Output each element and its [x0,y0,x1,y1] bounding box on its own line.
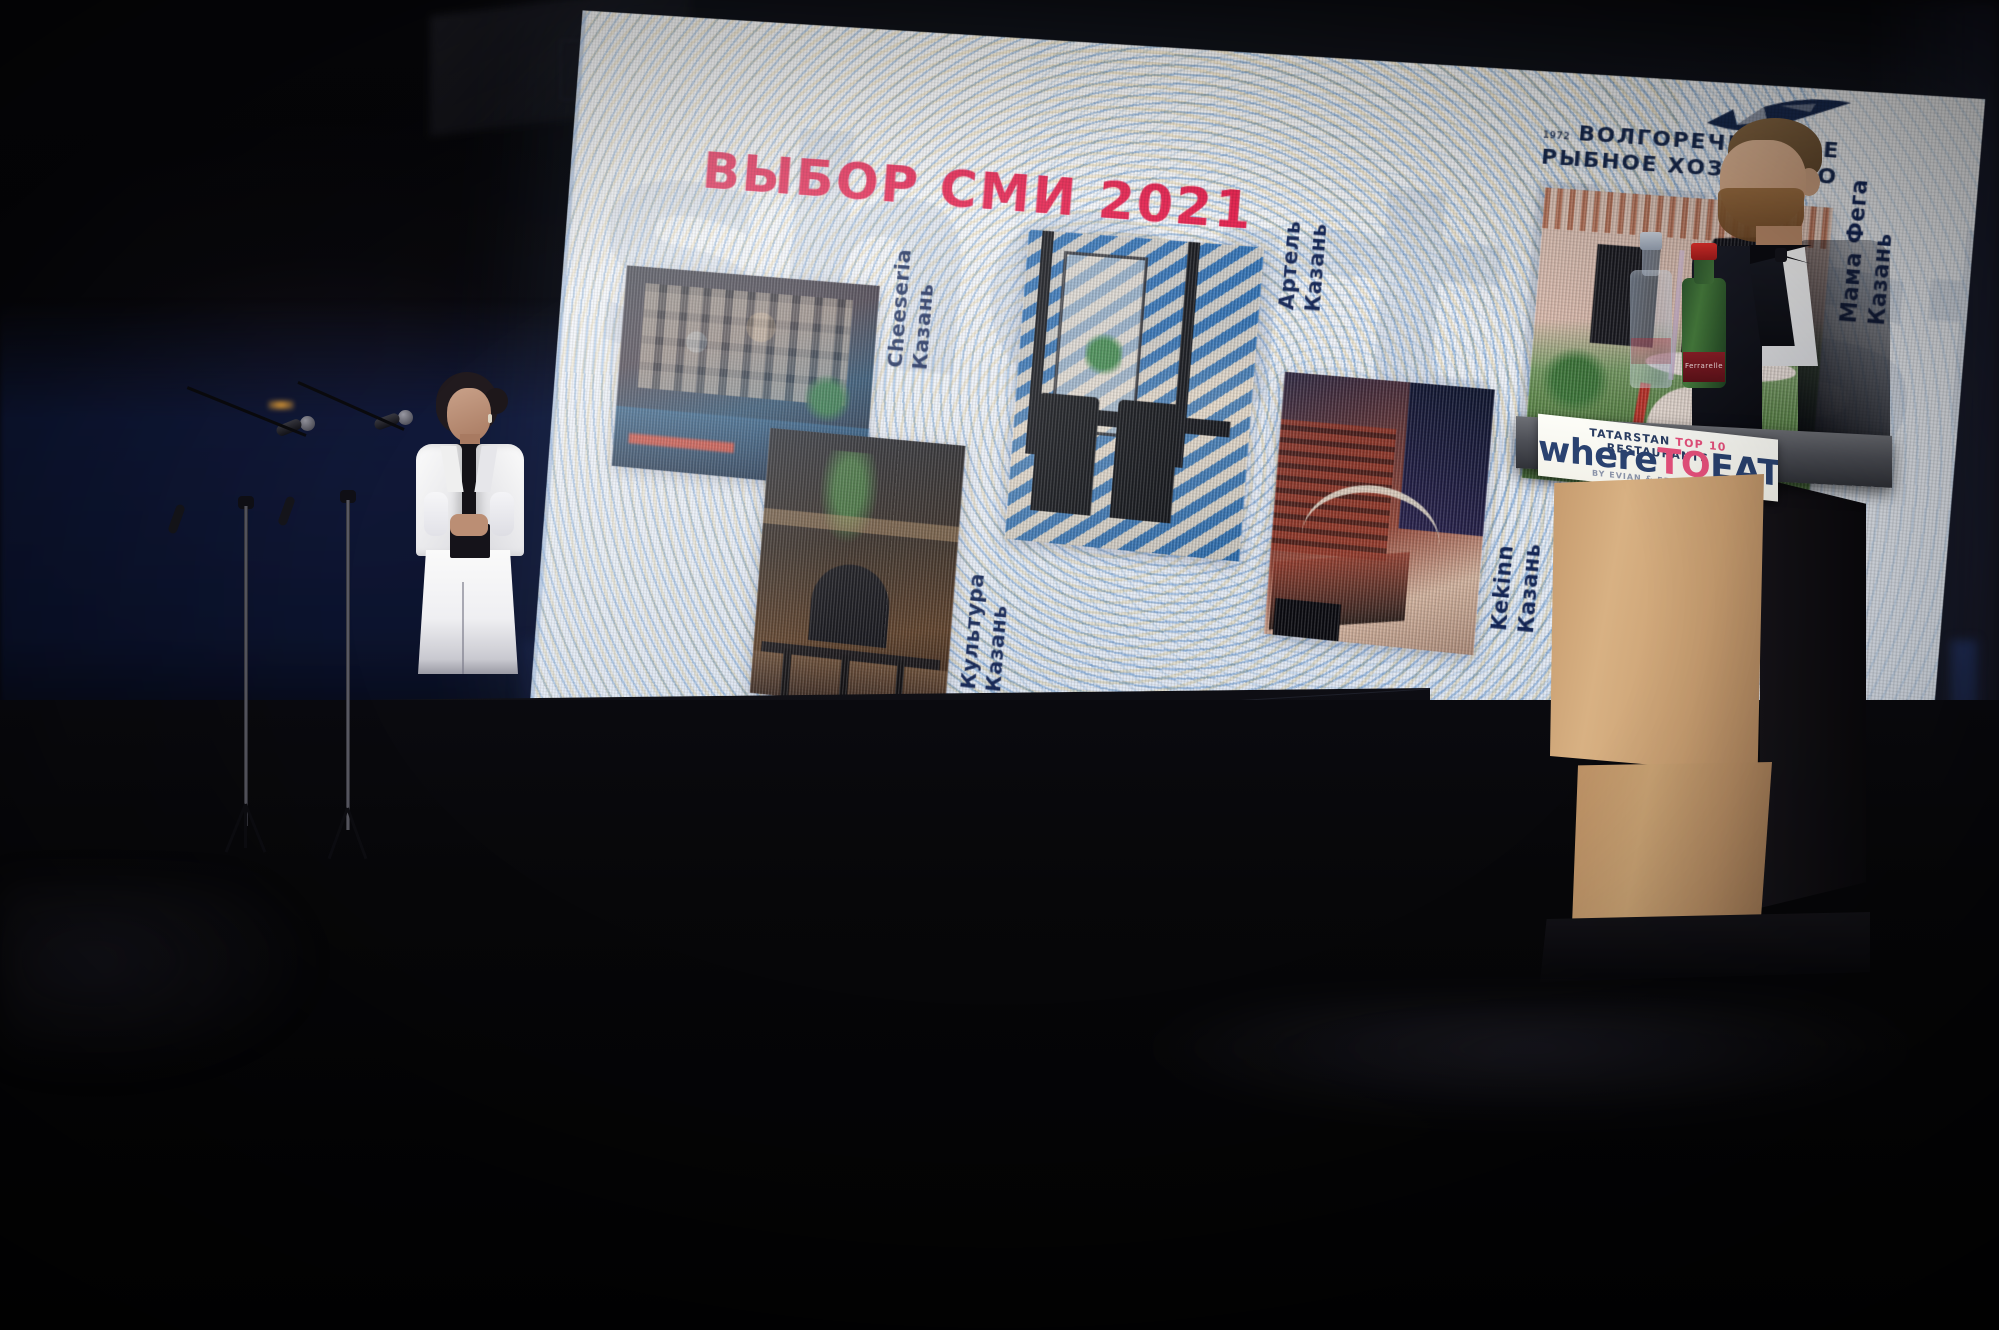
microphone-tripod-leg-2a [328,807,349,859]
microphone-tripod-leg-2b [346,807,367,859]
host-female-arm-right [490,492,514,536]
water-bottle-evian[interactable] [1630,228,1672,388]
stage-floor-glow [1150,1000,1910,1120]
sponsor-year: 1972 [1542,130,1570,143]
nominee-photo-artel [1005,230,1265,562]
host-female [392,372,542,672]
podium-side-panel [1760,478,1866,908]
ferrarelle-bottle-neck [1694,256,1714,284]
host-female-skirt [418,550,518,674]
ferrarelle-bottle-cap [1691,243,1717,260]
stage-left-glow [0,880,320,1080]
nominee-photo-kultura [750,428,966,714]
microphone-pole-1 [244,506,248,826]
ferrarelle-bottle-label: Ferrarelle [1683,352,1725,382]
evian-bottle-cap [1640,232,1662,250]
evian-bottle-neck [1642,246,1660,276]
microphone-counterweight-2 [277,495,296,526]
nominee-caption-artel: Артель Казань [1272,219,1332,313]
podium-front-panel-lower [1572,762,1772,932]
water-bottle-ferrarelle[interactable]: Ferrarelle [1682,236,1726,388]
microphone-counterweight-1 [167,503,186,534]
host-female-arm-left [424,492,448,536]
ferrarelle-label-text: Ferrarelle [1683,362,1725,370]
stage-accent-light [268,400,294,410]
evian-bottle-body [1630,270,1672,388]
nominee-caption-kultura: Культура Казань [955,572,1015,693]
evian-bottle-label [1631,338,1671,364]
microphone-tripod-leg-1c [244,804,247,848]
speaker-podium: TATARSTAN TOP 10 RESTAURANTS whereTOEAT … [1510,392,1902,1042]
host-male-bow-tie-knot [1775,248,1787,262]
podium-front-panel-upper [1550,474,1764,774]
nominee-photo-kekinn [1264,372,1495,656]
microphone-pole-2 [346,500,350,830]
nominee-caption-cheeseria: Cheeseria Казань [882,248,942,371]
podium-base [1540,912,1870,982]
host-female-skirt-seam [462,582,464,674]
host-female-hands [450,514,488,536]
host-female-earring [488,414,492,423]
